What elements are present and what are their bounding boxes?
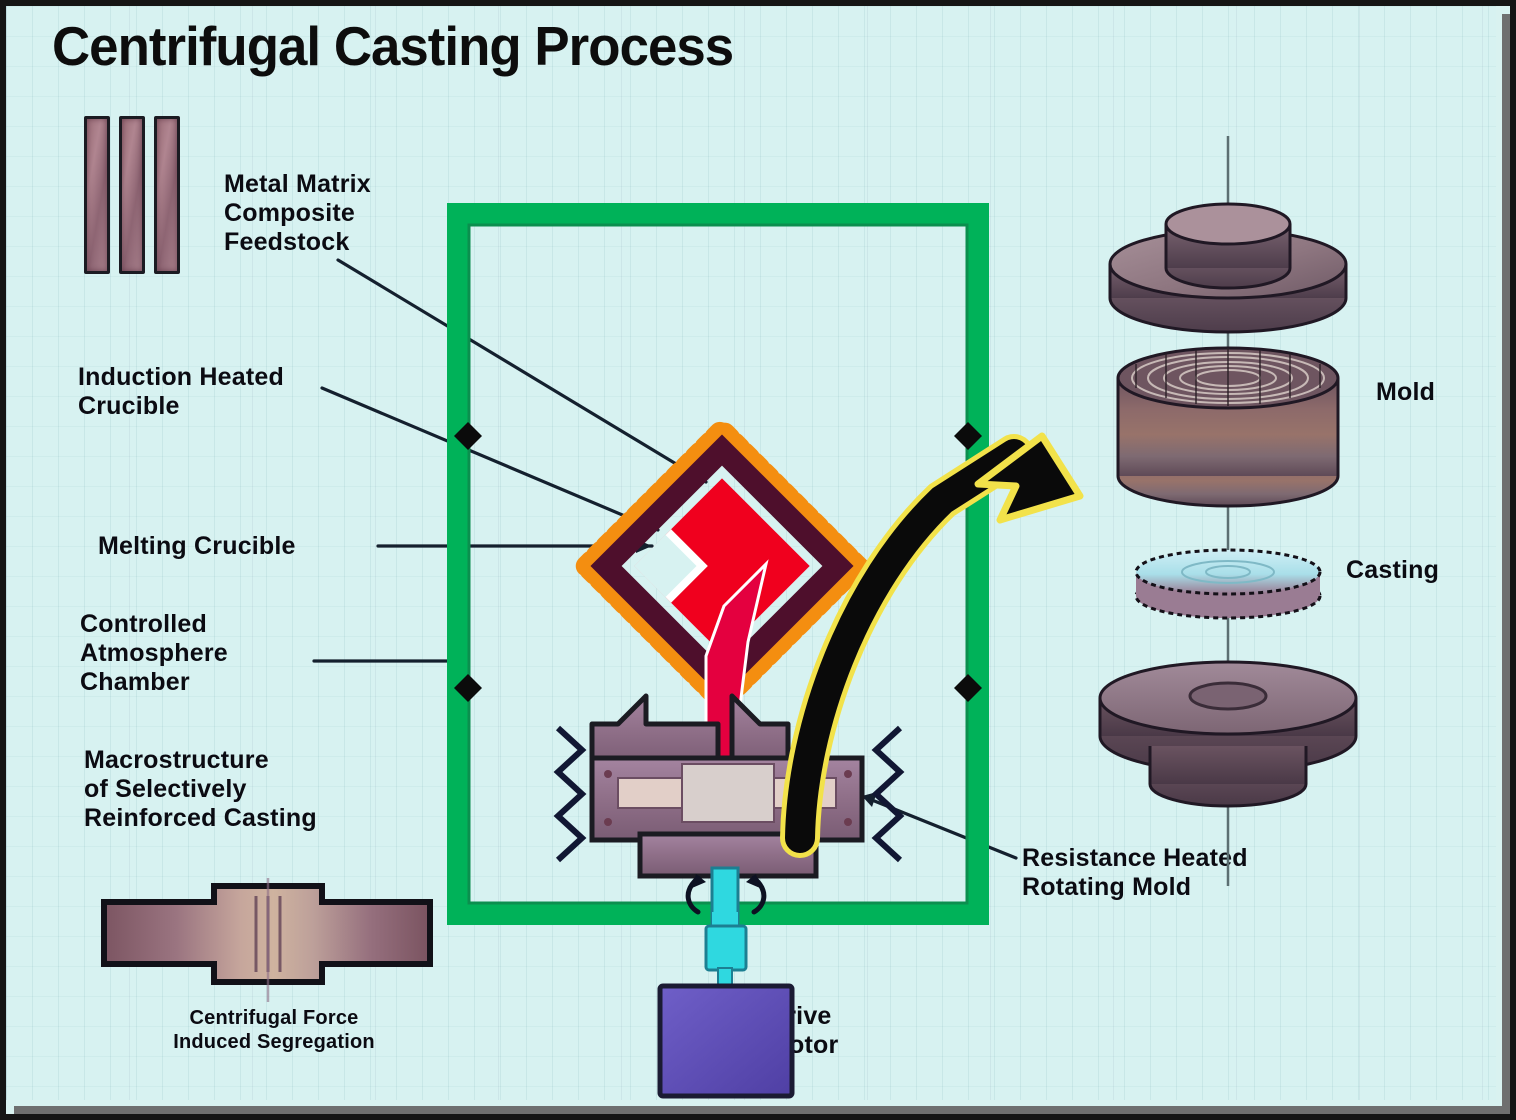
exploded-mold-stack [1100, 136, 1356, 886]
macrostructure-section [104, 878, 430, 1002]
mold-base-plate [1100, 662, 1356, 806]
process-illustration [6, 6, 1496, 1100]
mold-cap [1110, 204, 1346, 332]
leader-feedstock [338, 260, 706, 482]
frame-shadow-bottom [14, 1106, 1516, 1120]
mold-body [1118, 348, 1338, 506]
diagram-canvas: Centrifugal Casting Process Metal Matrix… [0, 0, 1516, 1120]
frame-shadow-right [1502, 14, 1516, 1120]
diagram-paper: Centrifugal Casting Process Metal Matrix… [6, 6, 1496, 1100]
drive-motor-body [660, 986, 792, 1096]
casting-disc [1136, 550, 1320, 618]
leader-induction [322, 388, 658, 530]
